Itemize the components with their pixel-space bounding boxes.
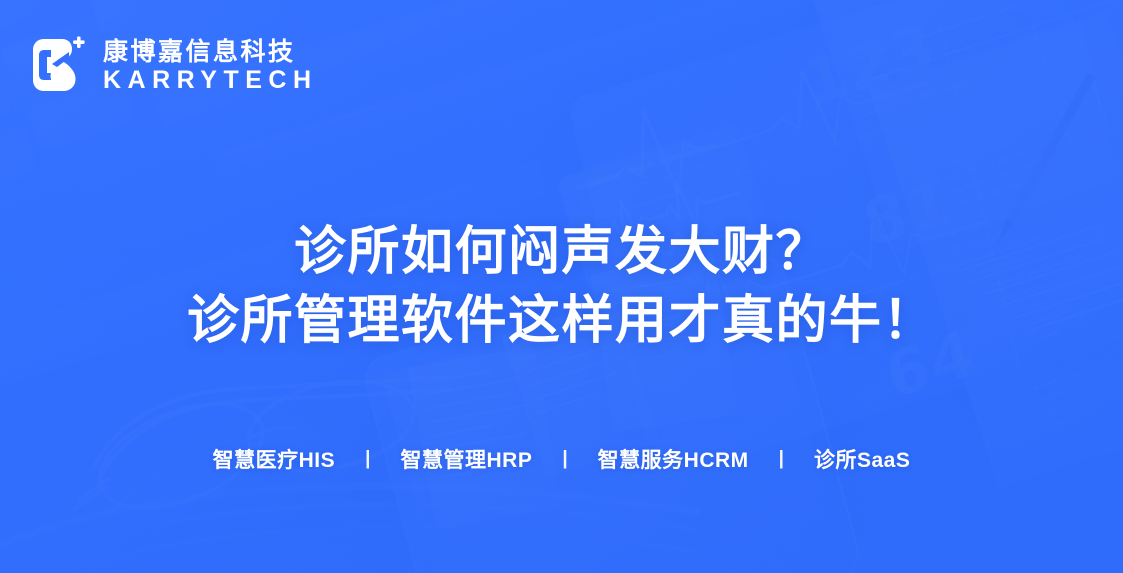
company-logo[interactable]: 康博嘉信息科技 KARRYTECH [28, 34, 318, 96]
service-tag-bar: 智慧医疗HIS | 智慧管理HRP | 智慧服务HCRM | 诊所SaaS [0, 444, 1123, 474]
logo-company-name-en: KARRYTECH [103, 66, 318, 94]
headline-line-1: 诊所如何闷声发大财？ [0, 218, 1123, 287]
tag-separator: | [562, 448, 567, 470]
tag-separator: | [365, 448, 370, 470]
service-tag-hrp[interactable]: 智慧管理HRP [400, 444, 532, 474]
headline-line-2: 诊所管理软件这样用才真的牛！ [0, 287, 1123, 356]
karrytech-k-plus-logo-icon [28, 34, 90, 96]
tag-separator: | [779, 448, 784, 470]
service-tag-saas[interactable]: 诊所SaaS [814, 444, 910, 474]
logo-company-name-cn: 康博嘉信息科技 [103, 38, 318, 66]
marketing-banner: command option ⌘ 123 81 64 [0, 0, 1123, 573]
service-tag-his[interactable]: 智慧医疗HIS [213, 444, 336, 474]
service-tag-hcrm[interactable]: 智慧服务HCRM [598, 444, 749, 474]
headline: 诊所如何闷声发大财？ 诊所管理软件这样用才真的牛！ [0, 218, 1123, 356]
